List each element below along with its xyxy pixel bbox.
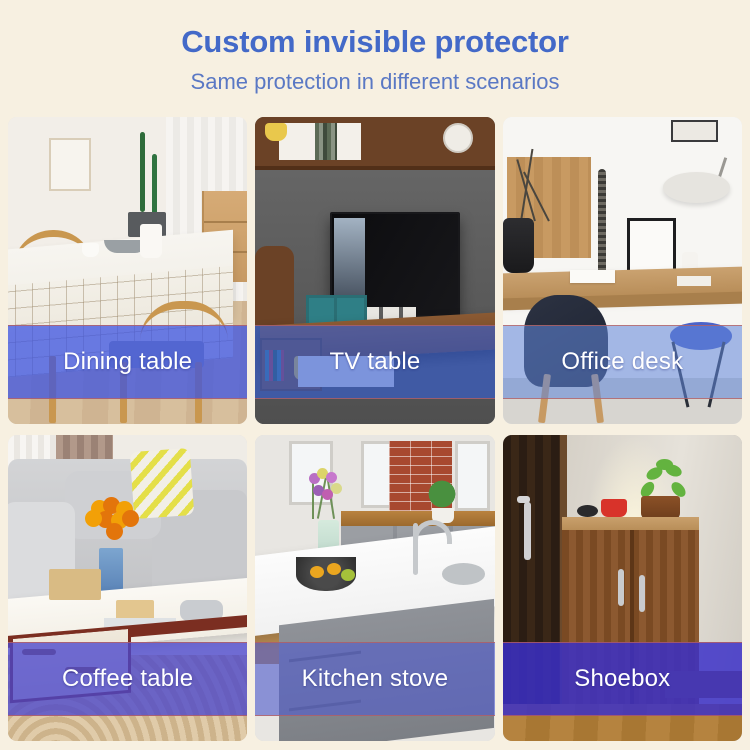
scenario-grid: Dining table <box>8 117 742 741</box>
page-title: Custom invisible protector <box>0 0 750 60</box>
scenario-tile-dining-table[interactable]: Dining table <box>8 117 247 424</box>
scenario-tile-coffee-table[interactable]: Coffee table <box>8 435 247 742</box>
tile-label: Office desk <box>561 350 683 374</box>
scenario-tile-kitchen-stove[interactable]: Kitchen stove <box>255 435 494 742</box>
tile-label-band: Coffee table <box>8 642 247 716</box>
tile-label: Coffee table <box>62 667 193 691</box>
tile-label-band: Office desk <box>503 325 742 399</box>
tile-label: TV table <box>330 350 421 374</box>
tile-label-band: Shoebox <box>503 642 742 716</box>
page-subtitle: Same protection in different scenarios <box>0 60 750 95</box>
tile-label: Kitchen stove <box>302 667 449 691</box>
header: Custom invisible protector Same protecti… <box>0 0 750 95</box>
tile-label: Shoebox <box>574 667 670 691</box>
tile-label: Dining table <box>63 350 192 374</box>
scenario-tile-office-desk[interactable]: Office desk <box>503 117 742 424</box>
infographic-page: Custom invisible protector Same protecti… <box>0 0 750 750</box>
tile-label-band: Kitchen stove <box>255 642 494 716</box>
scenario-tile-tv-table[interactable]: TV table <box>255 117 494 424</box>
scenario-tile-shoebox[interactable]: Shoebox <box>503 435 742 742</box>
tile-label-band: TV table <box>255 325 494 399</box>
tile-label-band: Dining table <box>8 325 247 399</box>
